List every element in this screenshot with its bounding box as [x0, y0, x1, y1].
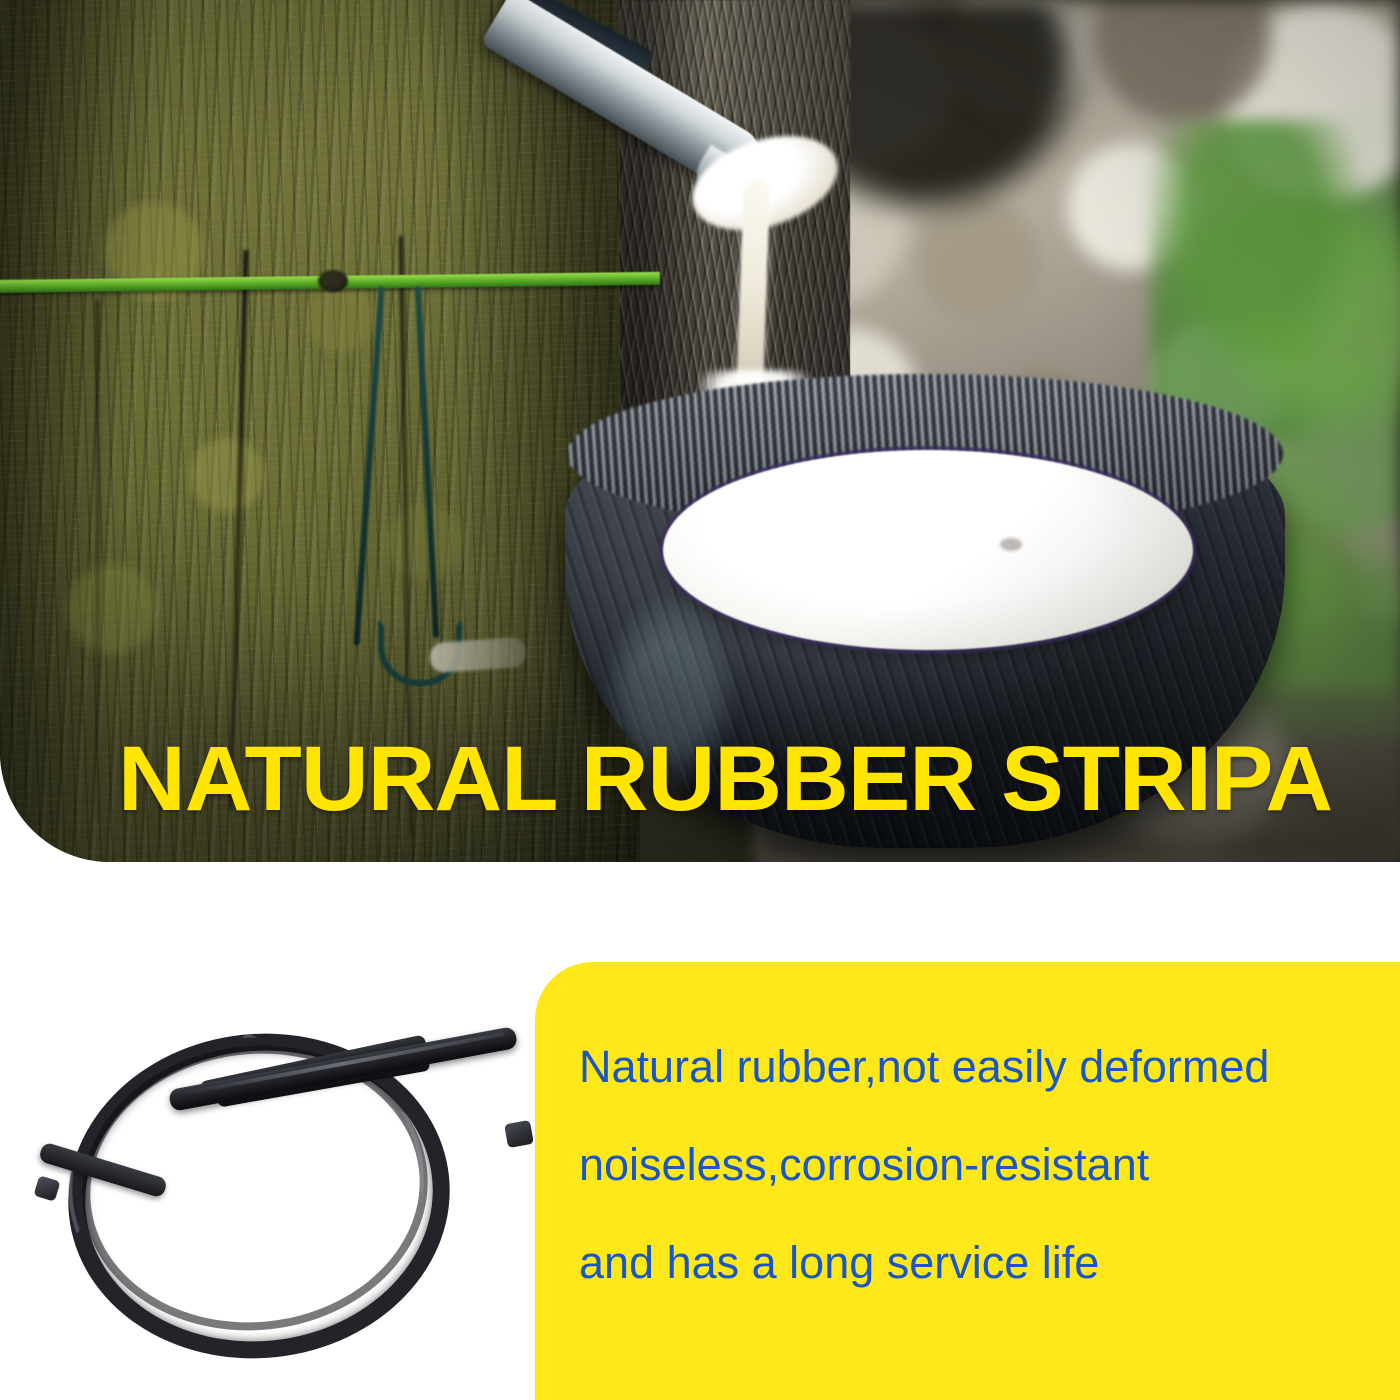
hero-photo: NATURAL RUBBER STRIPA [0, 0, 1400, 862]
rubber-strip-left-cap [33, 1175, 60, 1202]
feature-line-1: Natural rubber,not easily deformed [579, 1018, 1379, 1116]
feature-line-3: and has a long service life [579, 1214, 1379, 1312]
feature-line-2: noiseless,corrosion-resistant [579, 1116, 1379, 1214]
rubber-strip-cut-end [504, 1120, 534, 1148]
feature-text-block: Natural rubber,not easily deformed noise… [579, 1018, 1379, 1312]
feature-panel: Natural rubber,not easily deformed noise… [535, 962, 1400, 1400]
product-photo [20, 1012, 530, 1342]
lower-section: Natural rubber,not easily deformed noise… [0, 862, 1400, 1400]
page-title: NATURAL RUBBER STRIPA [118, 733, 1332, 825]
